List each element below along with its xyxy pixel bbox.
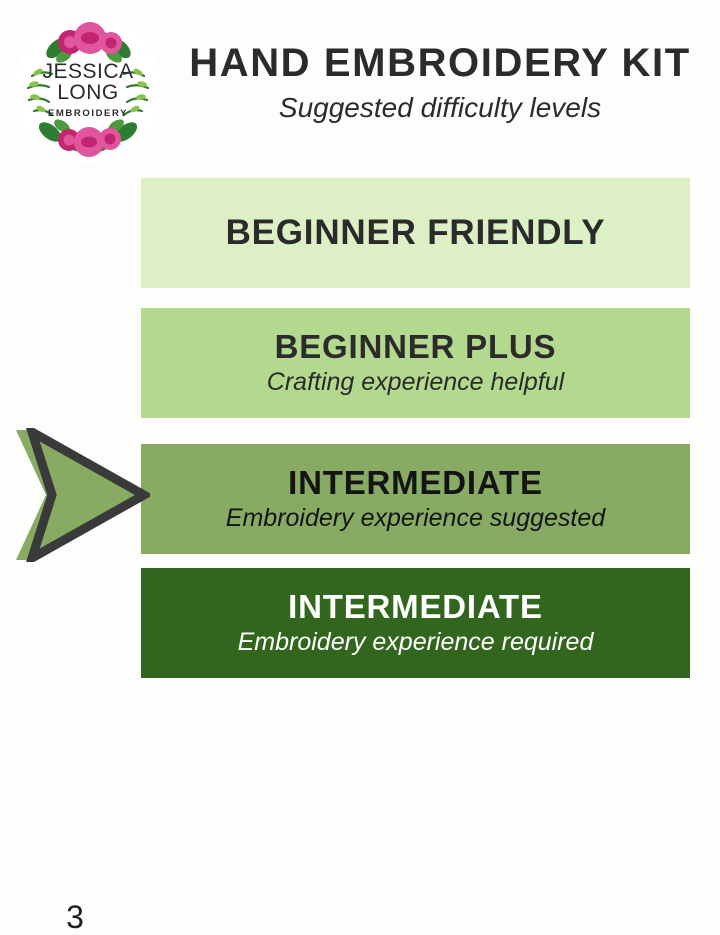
level-title: INTERMEDIATE bbox=[288, 590, 543, 624]
level-bar-beginner-friendly: BEGINNER FRIENDLY bbox=[141, 178, 690, 288]
title-block: HAND EMBROIDERY KIT Suggested difficulty… bbox=[170, 40, 710, 126]
difficulty-level-list: BEGINNER FRIENDLY BEGINNER PLUS Crafting… bbox=[141, 178, 690, 678]
brand-logo: JESSICA LONG EMBROIDERY bbox=[12, 14, 164, 166]
selected-level-marker: 3 bbox=[8, 428, 150, 562]
arrow-right-marker-icon bbox=[8, 428, 150, 562]
level-title: BEGINNER FRIENDLY bbox=[226, 215, 606, 251]
level-description: Embroidery experience required bbox=[238, 629, 594, 657]
level-bar-intermediate-required: INTERMEDIATE Embroidery experience requi… bbox=[141, 568, 690, 678]
level-bar-intermediate-suggested: INTERMEDIATE Embroidery experience sugge… bbox=[141, 444, 690, 554]
floral-wreath-icon bbox=[12, 14, 164, 166]
level-title: INTERMEDIATE bbox=[288, 466, 543, 500]
level-title: BEGINNER PLUS bbox=[275, 330, 557, 364]
marker-number: 3 bbox=[60, 901, 90, 933]
difficulty-levels-infographic: JESSICA LONG EMBROIDERY HAND EMBROIDERY … bbox=[0, 0, 720, 720]
page-subtitle: Suggested difficulty levels bbox=[170, 90, 710, 126]
page-title: HAND EMBROIDERY KIT bbox=[170, 40, 710, 86]
level-description: Crafting experience helpful bbox=[267, 369, 564, 397]
level-bar-beginner-plus: BEGINNER PLUS Crafting experience helpfu… bbox=[141, 308, 690, 418]
header: JESSICA LONG EMBROIDERY HAND EMBROIDERY … bbox=[0, 0, 720, 172]
level-description: Embroidery experience suggested bbox=[226, 505, 605, 533]
